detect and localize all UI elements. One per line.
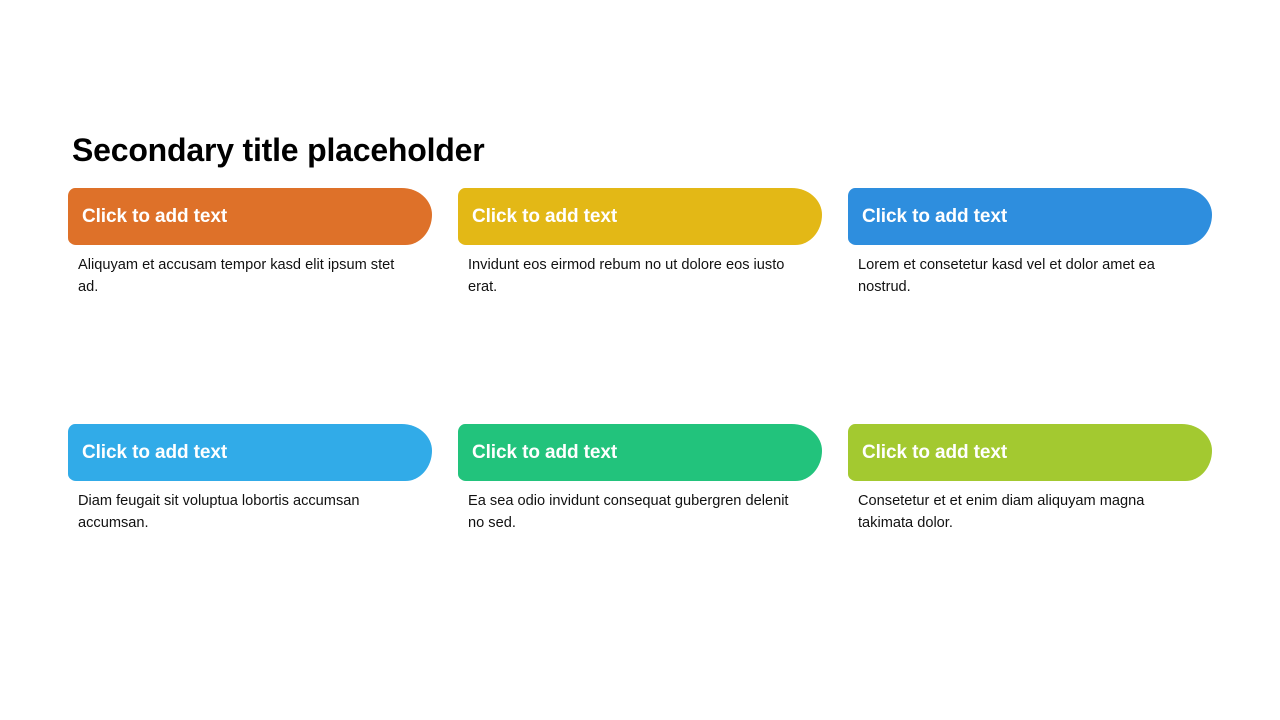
- card-header-bar[interactable]: Click to add text: [68, 188, 432, 245]
- card-header-bar[interactable]: Click to add text: [848, 424, 1212, 481]
- card-body-text[interactable]: Diam feugait sit voluptua lobortis accum…: [68, 490, 432, 534]
- card-body-text[interactable]: Invidunt eos eirmod rebum no ut dolore e…: [458, 254, 822, 298]
- card-header-label: Click to add text: [82, 443, 227, 463]
- card-header-label: Click to add text: [862, 443, 1007, 463]
- card-body-text[interactable]: Lorem et consetetur kasd vel et dolor am…: [848, 254, 1212, 298]
- card[interactable]: Click to add text Lorem et consetetur ka…: [848, 188, 1212, 298]
- card[interactable]: Click to add text Invidunt eos eirmod re…: [458, 188, 822, 298]
- card[interactable]: Click to add text Ea sea odio invidunt c…: [458, 424, 822, 534]
- page-title: Secondary title placeholder: [72, 128, 1212, 172]
- card[interactable]: Click to add text Diam feugait sit volup…: [68, 424, 432, 534]
- slide-canvas: Secondary title placeholder Click to add…: [0, 0, 1280, 720]
- card-header-label: Click to add text: [472, 207, 617, 227]
- card-header-bar[interactable]: Click to add text: [848, 188, 1212, 245]
- card-header-bar[interactable]: Click to add text: [458, 424, 822, 481]
- card-header-label: Click to add text: [862, 207, 1007, 227]
- card-header-bar[interactable]: Click to add text: [68, 424, 432, 481]
- card[interactable]: Click to add text Aliquyam et accusam te…: [68, 188, 432, 298]
- card-body-text[interactable]: Ea sea odio invidunt consequat gubergren…: [458, 490, 822, 534]
- card-grid: Click to add text Aliquyam et accusam te…: [68, 188, 1212, 548]
- card-header-bar[interactable]: Click to add text: [458, 188, 822, 245]
- card[interactable]: Click to add text Consetetur et et enim …: [848, 424, 1212, 534]
- card-header-label: Click to add text: [472, 443, 617, 463]
- card-body-text[interactable]: Aliquyam et accusam tempor kasd elit ips…: [68, 254, 432, 298]
- card-header-label: Click to add text: [82, 207, 227, 227]
- card-body-text[interactable]: Consetetur et et enim diam aliquyam magn…: [848, 490, 1212, 534]
